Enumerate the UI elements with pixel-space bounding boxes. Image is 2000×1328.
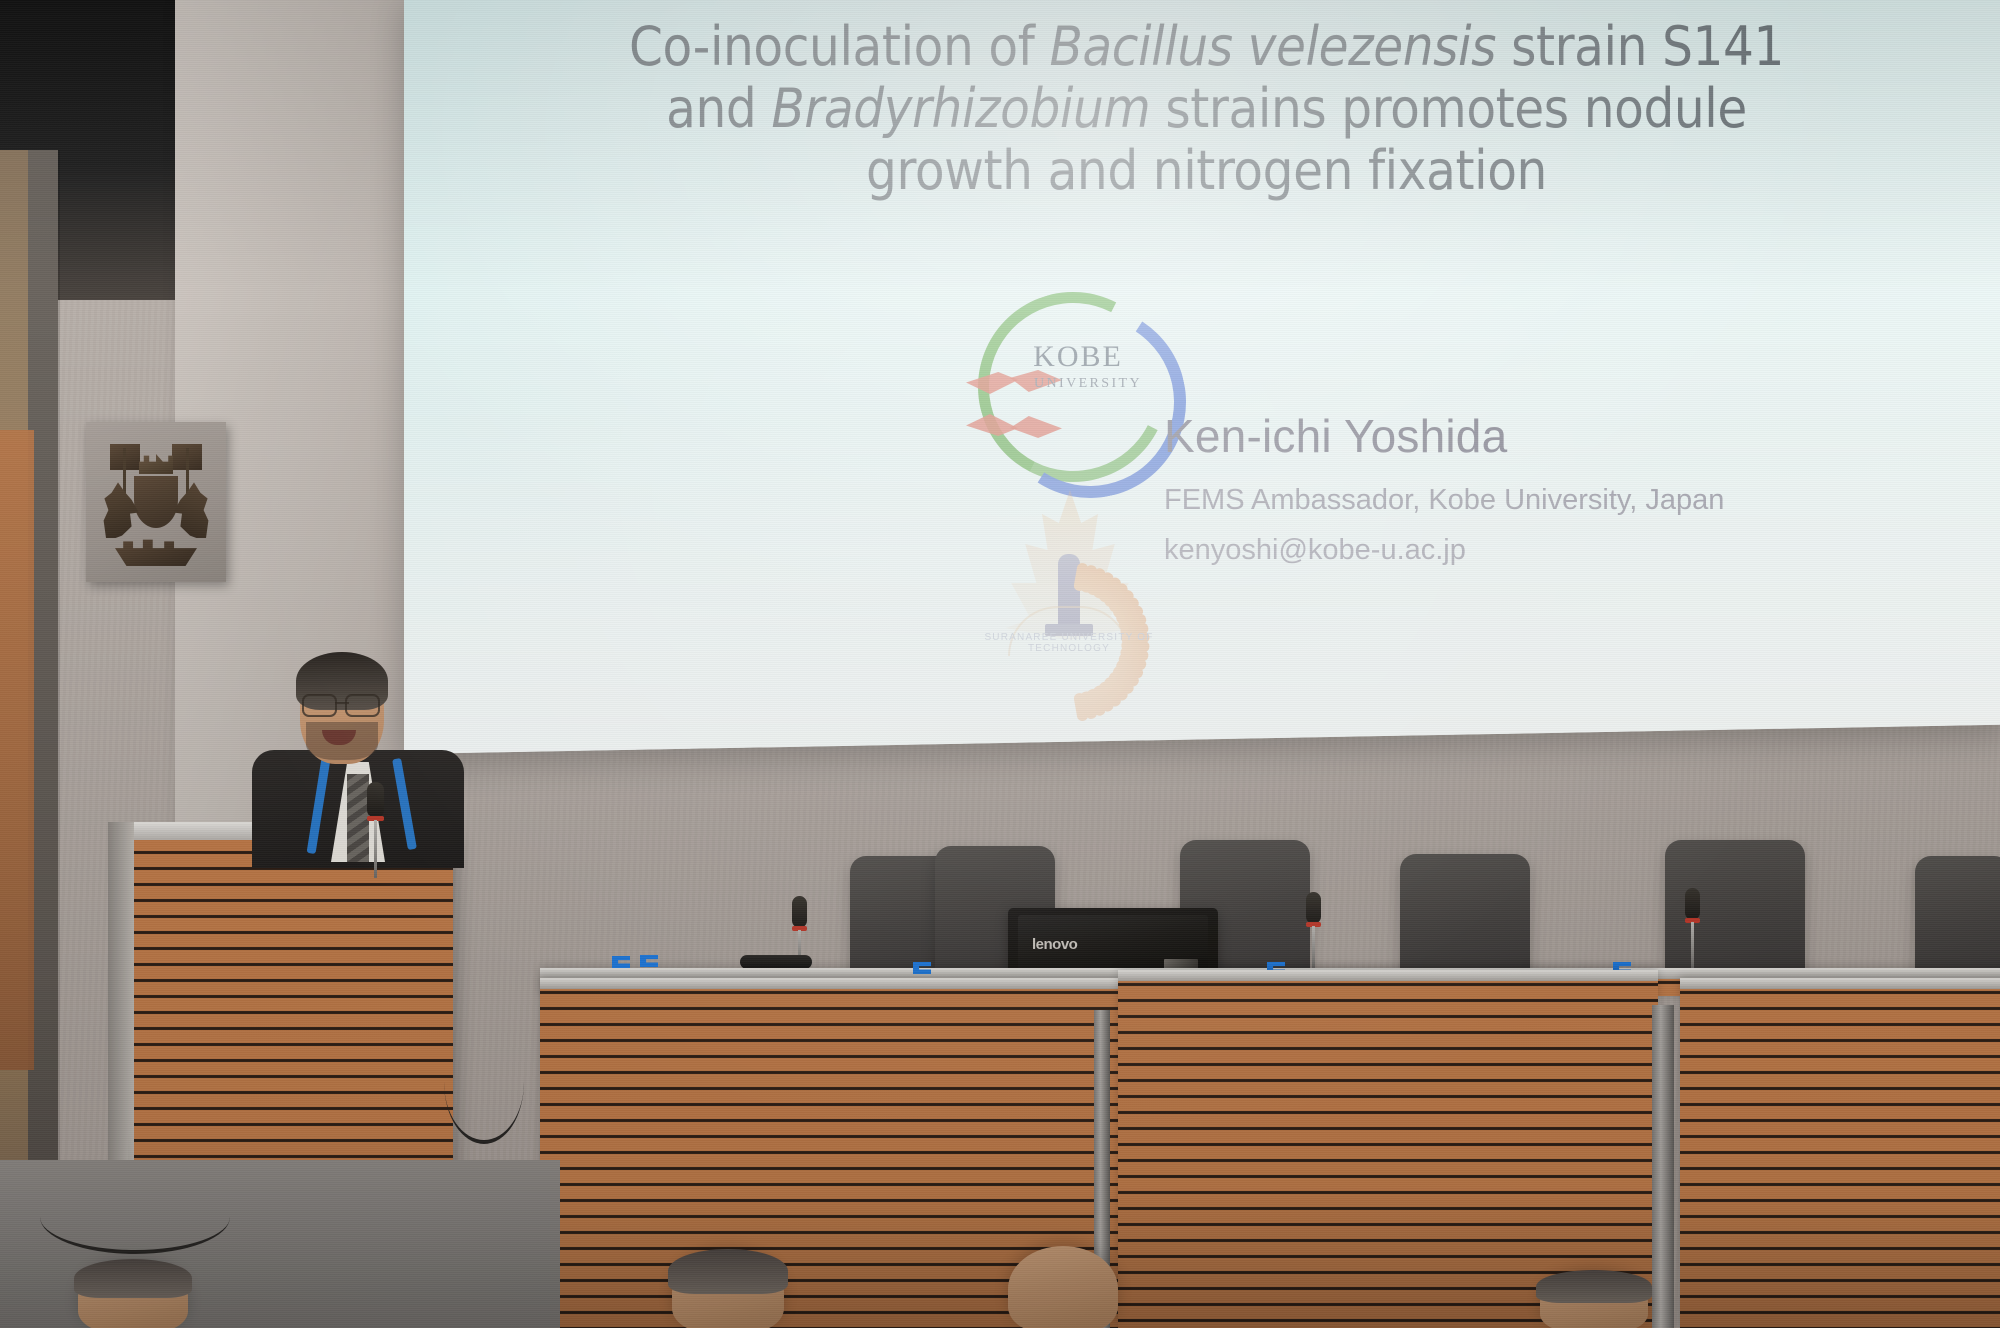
slide-title-line1: Co-inoculation of Bacillus velezensis st…	[629, 15, 1784, 78]
speaker-glasses-icon	[302, 694, 380, 714]
projection-screen: Co-inoculation of Bacillus velezensis st…	[404, 0, 2000, 754]
presenter-affiliation: FEMS Ambassador, Kobe University, Japan	[1164, 484, 1724, 517]
cable	[40, 1180, 230, 1254]
kobe-subtext: UNIVERSITY	[1018, 376, 1158, 392]
kobe-university-logo: KOBE UNIVERSITY	[962, 284, 1172, 494]
podium-microphone-stem	[374, 820, 377, 878]
slide-title-line3: growth and nitrogen fixation	[866, 139, 1547, 202]
desk-surface	[540, 978, 1120, 989]
desk-section-right	[1680, 978, 2000, 1328]
audience-head	[1008, 1246, 1118, 1328]
desk-surface	[1118, 970, 1658, 981]
podium-microphone-head-icon	[367, 782, 384, 818]
crest-shield-icon	[134, 476, 178, 528]
desk-divider	[1652, 1005, 1674, 1328]
cable	[444, 1020, 524, 1144]
slide-title: Co-inoculation of Bacillus velezensis st…	[404, 16, 2000, 202]
presentation-photo-scene: Co-inoculation of Bacillus velezensis st…	[0, 0, 2000, 1328]
lenovo-logo: lenovo	[1032, 936, 1077, 953]
microphone-head-icon	[1306, 892, 1321, 924]
audience-head	[78, 1262, 188, 1328]
wall-wood-panel	[0, 430, 34, 1070]
desk-surface	[1680, 978, 2000, 989]
slide-title-species-1: Bacillus velezensis	[1049, 15, 1496, 78]
audience-hair	[1536, 1270, 1653, 1304]
audience-head	[672, 1252, 784, 1328]
kobe-wordmark: KOBE	[1008, 340, 1148, 374]
presenter-name: Ken-ichi Yoshida	[1164, 409, 1507, 463]
sut-circular-text: SURANAREE UNIVERSITY OF TECHNOLOGY	[964, 632, 1174, 654]
slide-content: Co-inoculation of Bacillus velezensis st…	[404, 0, 2000, 754]
microphone-stem	[1312, 926, 1315, 970]
wall-seam	[58, 150, 60, 1328]
audience-hair	[668, 1249, 789, 1294]
crest-base-icon	[115, 538, 197, 566]
presenter-email: kenyoshi@kobe-u.ac.jp	[1164, 534, 1466, 567]
slide-title-species-2: Bradyrhizobium	[771, 77, 1150, 140]
speaker-at-podium	[248, 650, 468, 860]
kobe-petal-4	[1010, 416, 1062, 438]
speaker-tie	[347, 774, 369, 862]
glasses-bridge	[335, 702, 349, 704]
chair	[1400, 854, 1530, 974]
desk-shading	[1680, 978, 2000, 1328]
slide-title-line2: and Bradyrhizobium strains promotes nodu…	[666, 77, 1747, 140]
audience-head	[1540, 1272, 1648, 1328]
microphone-base	[740, 955, 812, 969]
coat-of-arms-plaque	[86, 422, 226, 582]
audience-hair	[74, 1259, 193, 1298]
microphone-head-icon	[1685, 888, 1700, 920]
crest-graphic	[96, 432, 216, 572]
kobe-petal-1	[966, 372, 1018, 394]
microphone-stem	[1691, 922, 1694, 970]
suranaree-university-logo: SURANAREE UNIVERSITY OF TECHNOLOGY	[964, 494, 1174, 694]
crest-crown-icon	[139, 454, 173, 474]
chair	[1915, 856, 2000, 982]
kobe-petal-2	[966, 414, 1018, 436]
microphone-head-icon	[792, 896, 807, 928]
